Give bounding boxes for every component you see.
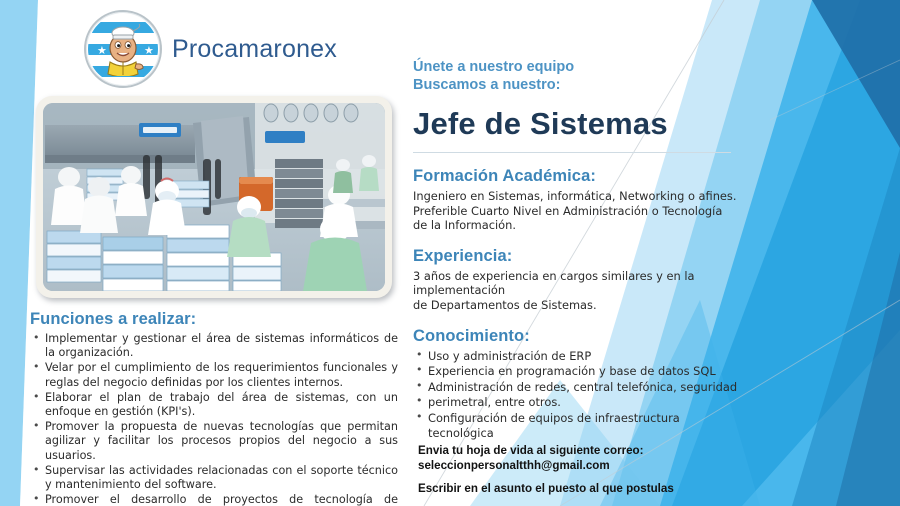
contact-email[interactable]: seleccionpersonaltthh@gmail.com [418, 459, 748, 474]
formacion-line-2: Preferible Cuarto Nivel en Administració… [413, 204, 743, 219]
contact-instruction: Envia tu hoja de vida al siguiente corre… [418, 444, 748, 459]
funciones-list: Implementar y gestionar el área de siste… [30, 332, 398, 506]
contact-subject-note: Escribir en el asunto el puesto al que p… [418, 482, 748, 497]
list-item: Configuración de equipos de infraestruct… [413, 411, 743, 440]
shrimp-chef-badge-icon: ★ ★ ★ [84, 10, 162, 88]
shrimp-mascot-icon [100, 24, 146, 76]
list-item: Elaborar el plan de trabajo del área de … [30, 391, 398, 419]
seafood-processing-plant-photo [43, 103, 385, 291]
experiencia-section: Experiencia: 3 años de experiencia en ca… [413, 247, 743, 313]
experiencia-line-1: 3 años de experiencia en cargos similare… [413, 269, 743, 298]
conocimiento-heading: Conocimiento: [413, 327, 743, 346]
conocimiento-section: Conocimiento: Uso y administración de ER… [413, 327, 743, 441]
list-item: Velar por el cumplimiento de los requeri… [30, 361, 398, 389]
conocimiento-list: Uso y administración de ERP Experiencia … [413, 349, 743, 441]
list-item: Uso y administración de ERP [413, 349, 743, 364]
experiencia-line-2: de Departamentos de Sistemas. [413, 298, 743, 313]
list-item: Promover el desarrollo de proyectos de t… [30, 493, 398, 506]
list-item: Promover la propuesta de nuevas tecnolog… [30, 420, 398, 463]
right-content-column: Únete a nuestro equipo Buscamos a nuestr… [413, 58, 743, 454]
plant-photo-frame [36, 96, 392, 298]
list-item: Experiencia en programación y base de da… [413, 364, 743, 379]
kicker-line-2: Buscamos a nuestro: [413, 76, 743, 94]
kicker-line-1: Únete a nuestro equipo [413, 58, 743, 76]
list-item: Implementar y gestionar el área de siste… [30, 332, 398, 360]
formacion-heading: Formación Académica: [413, 167, 743, 186]
title-divider [413, 152, 731, 153]
formacion-line-1: Ingeniero en Sistemas, informática, Netw… [413, 189, 743, 204]
experiencia-heading: Experiencia: [413, 247, 743, 266]
formacion-section: Formación Académica: Ingeniero en Sistem… [413, 167, 743, 233]
funciones-heading: Funciones a realizar: [30, 310, 398, 329]
poster-canvas: ★ ★ ★ Procamaronex [0, 0, 900, 506]
job-title: Jefe de Sistemas [413, 106, 743, 142]
formacion-line-3: de la Información. [413, 218, 743, 233]
list-item: Supervisar las actividades relacionadas … [30, 464, 398, 492]
honduras-flag-stripes-icon: ★ ★ ★ [88, 14, 158, 84]
funciones-section: Funciones a realizar: Implementar y gest… [30, 310, 398, 506]
contact-spacer [418, 473, 748, 482]
list-item: Administración de redes, central telefón… [413, 380, 743, 395]
brand-logo: ★ ★ ★ Procamaronex [84, 10, 337, 88]
list-item: perimetral, entre otros. [413, 395, 743, 410]
contact-block: Envia tu hoja de vida al siguiente corre… [418, 444, 748, 497]
brand-name: Procamaronex [172, 35, 337, 64]
